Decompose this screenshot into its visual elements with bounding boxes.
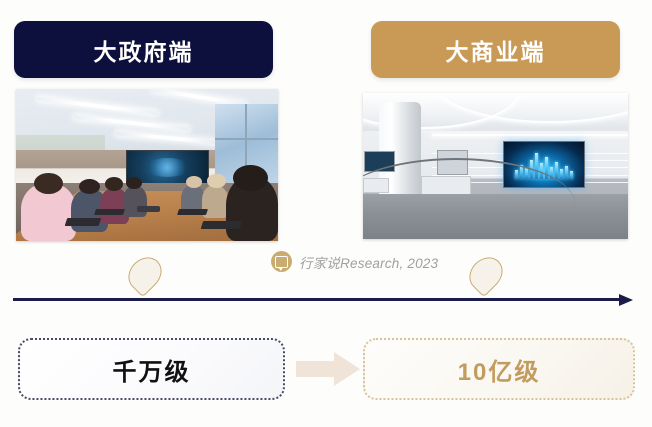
- timeline-marker-left: [128, 256, 162, 298]
- person-head: [186, 176, 202, 188]
- person-head: [233, 165, 267, 191]
- map-pin-icon: [122, 251, 169, 298]
- person-head: [34, 173, 63, 194]
- screen-glow: [145, 158, 190, 177]
- person-head: [105, 177, 123, 191]
- timeline-axis: [13, 294, 639, 306]
- timeline-marker-right: [469, 256, 503, 298]
- value-box-government: 千万级: [18, 338, 285, 400]
- laptop: [94, 209, 125, 215]
- value-box-commercial-label: 10亿级: [458, 352, 541, 387]
- timeline-line: [13, 298, 621, 301]
- person-head: [207, 174, 225, 188]
- person-head: [79, 179, 100, 194]
- transition-arrow-right-icon: [296, 352, 362, 386]
- wall-light-strip: [432, 134, 628, 136]
- window-mullion: [215, 138, 278, 140]
- laptop: [201, 221, 243, 229]
- watermark: 行家说Research, 2023: [271, 251, 438, 272]
- header-badge-government-label: 大政府端: [94, 33, 194, 67]
- laptop: [177, 209, 208, 215]
- value-box-commercial: 10亿级: [363, 338, 635, 400]
- photo-government-conference-room: [16, 89, 278, 241]
- table-object: [137, 206, 161, 212]
- watermark-text: 行家说Research, 2023: [299, 252, 438, 272]
- arrow-right-icon: [619, 294, 633, 306]
- value-box-government-label: 千万级: [113, 352, 191, 387]
- laptop: [65, 218, 102, 226]
- person: [123, 186, 147, 216]
- person-head: [126, 177, 142, 189]
- header-badge-commercial: 大商业端: [371, 21, 620, 78]
- header-badge-government: 大政府端: [14, 21, 273, 78]
- map-pin-icon: [463, 251, 510, 298]
- header-badge-commercial-label: 大商业端: [446, 33, 546, 67]
- photo-commercial-showroom: [363, 93, 628, 239]
- speech-bubble-logo-icon: [271, 251, 292, 272]
- infographic-stage: 大政府端 大商业端: [0, 0, 652, 427]
